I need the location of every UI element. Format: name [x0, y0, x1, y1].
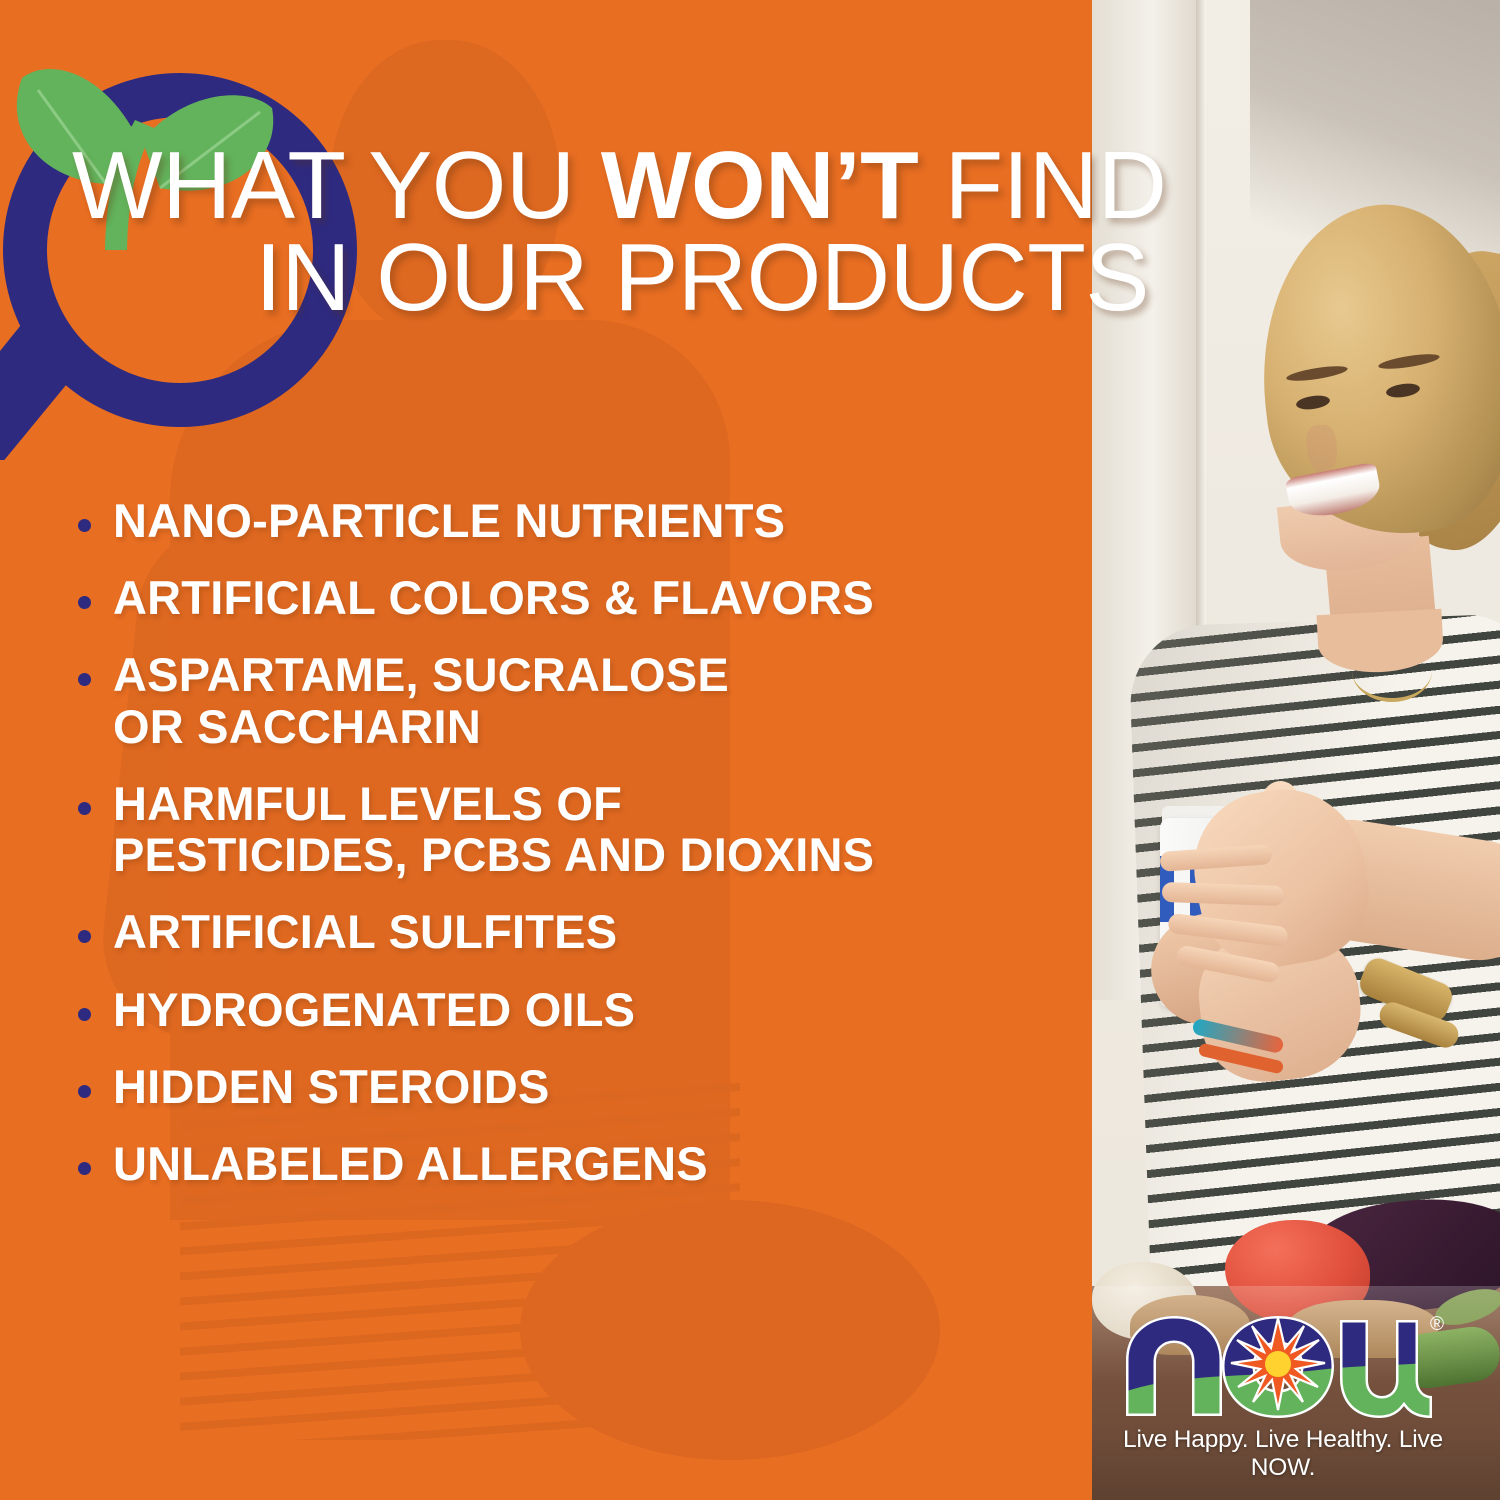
- list-item-label: UNLABELED ALLERGENS: [113, 1138, 708, 1189]
- registered-mark: ®: [1430, 1314, 1444, 1335]
- finger: [1162, 882, 1285, 906]
- bullet-dot-icon: [78, 930, 91, 943]
- bullet-dot-icon: [78, 596, 91, 609]
- bullet-dot-icon: [78, 1008, 91, 1021]
- list-item: ARTIFICIAL SULFITES: [78, 906, 1078, 957]
- bullet-dot-icon: [78, 1162, 91, 1175]
- brand-tagline: Live Happy. Live Healthy. Live NOW.: [1118, 1426, 1448, 1482]
- excluded-ingredients-list: NANO-PARTICLE NUTRIENTS ARTIFICIAL COLOR…: [78, 495, 1078, 1215]
- list-item-label: ARTIFICIAL COLORS & FLAVORS: [113, 572, 874, 623]
- necklace: [1352, 640, 1432, 702]
- list-item-label: HIDDEN STEROIDS: [113, 1061, 550, 1112]
- headline-line1-part2: FIND: [918, 132, 1166, 239]
- bullet-dot-icon: [78, 1085, 91, 1098]
- list-item-label: ASPARTAME, SUCRALOSE OR SACCHARIN: [113, 649, 729, 751]
- brand-logo: ® Live Happy. Live Healthy. Live NOW.: [1118, 1308, 1448, 1482]
- list-item: HARMFUL LEVELS OF PESTICIDES, PCBS AND D…: [78, 778, 1078, 880]
- headline-line1-part1: WHAT YOU: [72, 132, 601, 239]
- promo-poster: WHAT YOU WON’T FIND IN OUR PRODUCTS NANO…: [0, 0, 1500, 1500]
- list-item: UNLABELED ALLERGENS: [78, 1138, 1078, 1189]
- list-item-label: NANO-PARTICLE NUTRIENTS: [113, 495, 785, 546]
- headline-emphasis: WON’T: [601, 132, 918, 239]
- list-item-label: HARMFUL LEVELS OF PESTICIDES, PCBS AND D…: [113, 778, 874, 880]
- list-item: HYDROGENATED OILS: [78, 984, 1078, 1035]
- list-item-label: HYDROGENATED OILS: [113, 984, 635, 1035]
- bullet-dot-icon: [78, 519, 91, 532]
- list-item: ARTIFICIAL COLORS & FLAVORS: [78, 572, 1078, 623]
- bullet-dot-icon: [78, 673, 91, 686]
- list-item-label: ARTIFICIAL SULFITES: [113, 906, 617, 957]
- list-item: NANO-PARTICLE NUTRIENTS: [78, 495, 1078, 546]
- bullet-dot-icon: [78, 802, 91, 815]
- list-item: HIDDEN STEROIDS: [78, 1061, 1078, 1112]
- headline-line2: IN OUR PRODUCTS: [72, 232, 1332, 324]
- list-item: ASPARTAME, SUCRALOSE OR SACCHARIN: [78, 649, 1078, 751]
- page-title: WHAT YOU WON’T FIND IN OUR PRODUCTS: [72, 140, 1432, 324]
